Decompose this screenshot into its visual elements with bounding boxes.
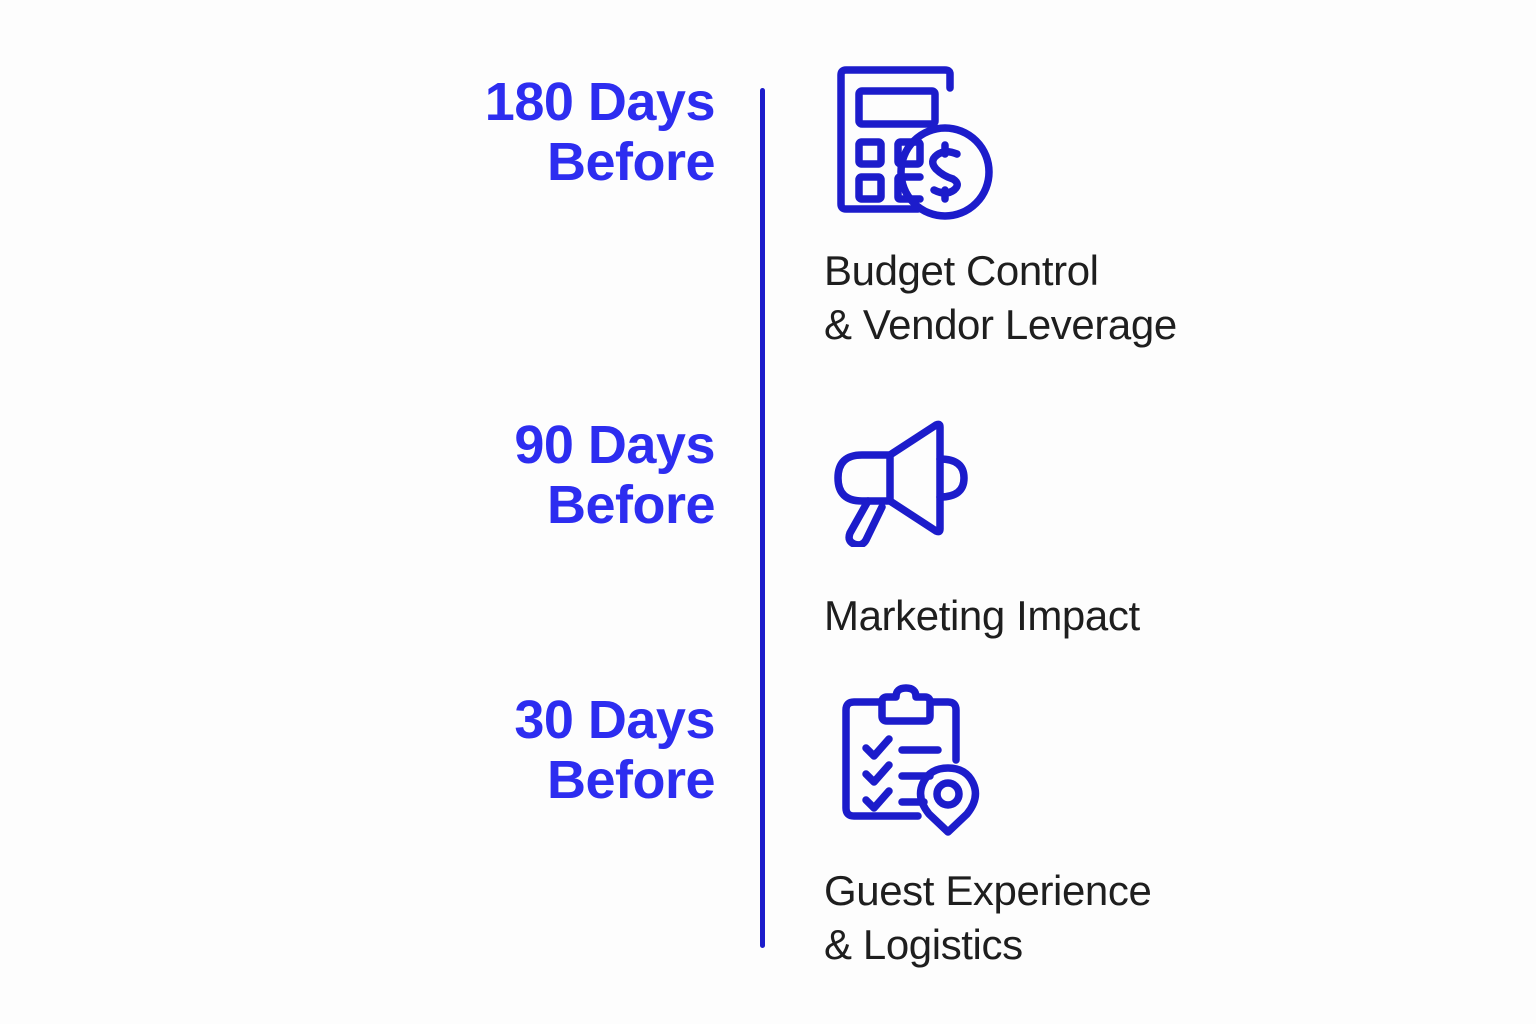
vertical-timeline-axis (760, 88, 765, 948)
milestone-caption-180-days: Budget Control & Vendor Leverage (824, 244, 1424, 352)
timeline-infographic: 180 Days Before (0, 0, 1536, 1024)
clipboard-checklist-location-icon (832, 684, 1424, 836)
when-line-primary: 90 Days (300, 415, 715, 475)
when-line-secondary: Before (300, 475, 715, 535)
when-line-secondary: Before (300, 750, 715, 810)
when-line-secondary: Before (300, 132, 715, 192)
milestone-content-180-days: Budget Control & Vendor Leverage (824, 72, 1424, 352)
megaphone-icon (832, 417, 1424, 547)
milestone-when-90-days: 90 Days Before (300, 415, 715, 536)
milestone-caption-30-days: Guest Experience & Logistics (824, 864, 1424, 972)
milestone-content-90-days: Marketing Impact (824, 415, 1424, 643)
calculator-dollar-icon (826, 66, 1424, 226)
milestone-caption-90-days: Marketing Impact (824, 589, 1424, 643)
when-line-primary: 30 Days (300, 690, 715, 750)
milestone-content-30-days: Guest Experience & Logistics (824, 690, 1424, 972)
when-line-primary: 180 Days (300, 72, 715, 132)
milestone-when-180-days: 180 Days Before (300, 72, 715, 193)
milestone-when-30-days: 30 Days Before (300, 690, 715, 811)
